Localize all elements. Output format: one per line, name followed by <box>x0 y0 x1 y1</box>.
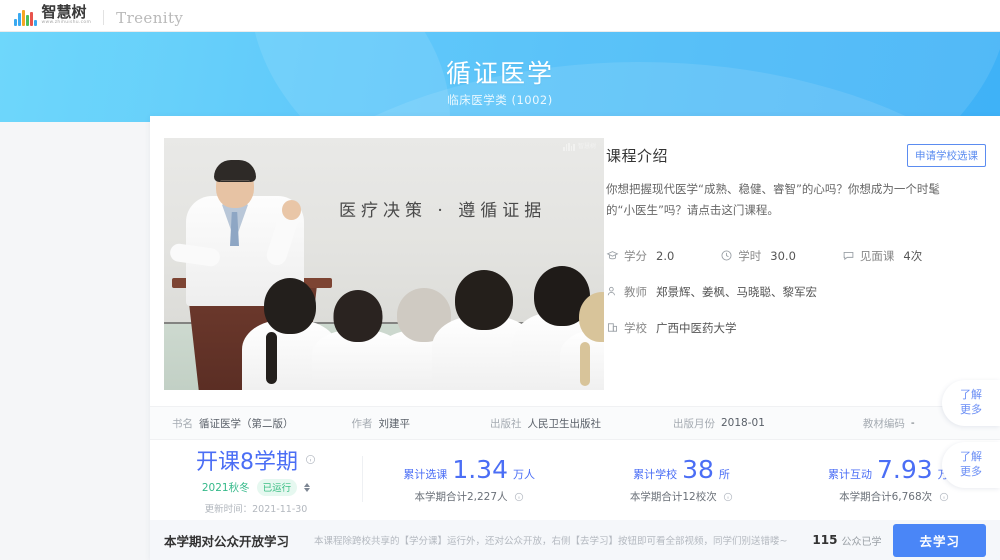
info-icon[interactable] <box>723 492 733 502</box>
stat-schools-sub-text: 本学期合计12校次 <box>630 491 717 503</box>
meta-teacher-label: 教师 <box>624 284 647 300</box>
stat-enrollment: 累计选课 1.34 万人 本学期合计2,227人 <box>363 455 575 504</box>
semester-term: 2021秋冬 <box>202 480 250 495</box>
semester-title-row: 开课8学期 <box>150 444 362 476</box>
meta-hours-value: 30.0 <box>770 249 796 263</box>
learn-more-line2: 更多 <box>960 465 982 480</box>
textbook-publisher-label: 出版社 <box>490 416 522 431</box>
logo-url-text: www.zhihuishu.com <box>42 20 92 26</box>
public-learner-count-label: 公众已学 <box>841 533 881 548</box>
info-icon[interactable] <box>305 454 316 465</box>
textbook-name-label: 书名 <box>172 416 193 431</box>
lecturer-hand <box>282 200 301 220</box>
meta-school-value: 广西中医药大学 <box>656 320 737 336</box>
zhihuishu-watermark-icon: 智慧树 <box>563 143 596 151</box>
stat-schools-sub: 本学期合计12校次 <box>575 489 787 504</box>
stat-interactions-label: 累计互动 <box>828 466 872 482</box>
stat-schools-label: 累计学校 <box>633 466 677 482</box>
textbook-date-value: 2018-01 <box>721 417 765 429</box>
semester-selector-caret-icon[interactable] <box>304 483 310 492</box>
textbook-author: 作者 刘建平 <box>352 416 411 431</box>
stat-schools: 累计学校 38 所 本学期合计12校次 <box>575 455 787 504</box>
course-intro-header: 课程介绍 申请学校选课 <box>606 144 986 167</box>
page-root: 智慧树 www.zhihuishu.com Treenity 循证医学 临床医学… <box>0 0 1000 560</box>
semester-updated-time: 更新时间：2021-11-30 <box>150 501 362 515</box>
textbook-date-label: 出版月份 <box>673 416 715 431</box>
meta-school-label: 学校 <box>624 320 647 336</box>
graduation-cap-icon <box>606 249 619 262</box>
textbook-date: 出版月份 2018-01 <box>673 416 765 431</box>
meta-hours-label: 学时 <box>738 248 761 264</box>
meta-teacher-value: 郑景辉、姜枫、马晓聪、黎军宏 <box>656 284 817 300</box>
chat-bubble-icon <box>842 249 855 262</box>
course-banner: 循证医学 临床医学类 (1002) <box>0 32 1000 122</box>
page-title: 循证医学 <box>0 54 1000 90</box>
meta-school: 学校 广西中医药大学 <box>606 320 737 336</box>
public-learning-note: 本课程除跨校共享的【学分课】运行外，还对公众开放，右侧【去学习】按钮即可看全部视… <box>289 533 812 547</box>
meta-meetings-label: 见面课 <box>860 248 895 264</box>
textbook-info-bar: 书名 循证医学（第二版） 作者 刘建平 出版社 人民卫生出版社 出版月份 201… <box>150 406 1000 440</box>
textbook-code-value: - <box>911 417 915 429</box>
go-study-button[interactable]: 去学习 <box>893 524 986 557</box>
learn-more-pill-top[interactable]: 了解 更多 <box>942 380 1000 426</box>
meta-meetings: 见面课 4次 <box>842 248 922 264</box>
meta-row-school: 学校 广西中医药大学 <box>606 320 986 336</box>
meta-credit-label: 学分 <box>624 248 647 264</box>
stat-interactions-sub-text: 本学期合计6,768次 <box>839 491 932 503</box>
meta-teacher: 教师 郑景辉、姜枫、马晓聪、黎军宏 <box>606 284 817 300</box>
course-cover-image[interactable]: 医疗决策 · 遵循证据 <box>164 138 604 390</box>
info-icon[interactable] <box>514 492 524 502</box>
info-icon[interactable] <box>939 492 949 502</box>
watermark-label: 智慧树 <box>578 143 596 151</box>
textbook-publisher: 出版社 人民卫生出版社 <box>490 416 601 431</box>
stat-enrollment-sub-text: 本学期合计2,227人 <box>414 491 507 503</box>
meta-row-teacher: 教师 郑景辉、姜枫、马晓聪、黎军宏 <box>606 284 986 300</box>
course-statistics: 开课8学期 2021秋冬 已运行 更新时间：2021-11-30 <box>150 440 1000 518</box>
stat-schools-unit: 所 <box>719 466 730 482</box>
meta-row-basic: 学分 2.0 学时 30.0 <box>606 248 986 264</box>
user-icon <box>606 285 619 298</box>
textbook-publisher-value: 人民卫生出版社 <box>528 416 602 431</box>
meta-credit: 学分 2.0 <box>606 248 674 264</box>
student-figure <box>560 294 604 390</box>
meta-credit-value: 2.0 <box>656 249 674 263</box>
semester-title: 开课8学期 <box>196 444 298 476</box>
course-intro-title: 课程介绍 <box>606 145 668 166</box>
public-learner-count: 115 <box>812 533 837 547</box>
textbook-author-label: 作者 <box>352 416 373 431</box>
textbook-name: 书名 循证医学（第二版） <box>172 416 294 431</box>
page-subtitle: 临床医学类 (1002) <box>0 92 1000 108</box>
clock-icon <box>720 249 733 262</box>
meta-meetings-value: 4次 <box>903 248 922 264</box>
top-bar: 智慧树 www.zhihuishu.com Treenity <box>0 0 1000 32</box>
learn-more-line1: 了解 <box>960 388 982 403</box>
logo-english-text: Treenity <box>116 10 183 26</box>
course-meta: 学分 2.0 学时 30.0 <box>606 248 986 336</box>
stat-enrollment-sub: 本学期合计2,227人 <box>363 489 575 504</box>
stat-enrollment-unit: 万人 <box>513 466 535 482</box>
textbook-author-value: 刘建平 <box>379 416 411 431</box>
lecturer-hair <box>214 160 256 182</box>
stat-interactions-number: 7.93 <box>877 455 933 484</box>
textbook-name-value: 循证医学（第二版） <box>199 416 294 431</box>
status-badge: 已运行 <box>257 479 298 496</box>
course-info-panel: 课程介绍 申请学校选课 你想把握现代医学“成熟、稳健、睿智”的心吗？你想成为一个… <box>606 144 986 336</box>
stat-enrollment-line: 累计选课 1.34 万人 <box>363 455 575 484</box>
stat-interactions-sub: 本学期合计6,768次 <box>788 489 1000 504</box>
logo-divider <box>103 10 104 25</box>
meta-hours: 学时 30.0 <box>720 248 796 264</box>
course-description: 你想把握现代医学“成熟、稳健、睿智”的心吗？你想成为一个时髦的“小医生”吗？请点… <box>606 179 954 222</box>
stat-schools-line: 累计学校 38 所 <box>575 455 787 484</box>
learn-more-line2: 更多 <box>960 403 982 418</box>
stat-schools-number: 38 <box>682 455 714 484</box>
lecturer-glasses <box>220 180 250 187</box>
public-learning-title: 本学期对公众开放学习 <box>164 531 289 550</box>
whiteboard-text: 医疗决策 · 遵循证据 <box>339 196 546 221</box>
learn-more-line1: 了解 <box>960 450 982 465</box>
logo-chinese-text: 智慧树 <box>42 5 92 20</box>
semester-term-row: 2021秋冬 已运行 <box>150 479 362 496</box>
course-card: 医疗决策 · 遵循证据 <box>150 116 1000 560</box>
logo-bars-icon <box>14 10 37 26</box>
stat-enrollment-number: 1.34 <box>452 455 508 484</box>
building-icon <box>606 321 619 334</box>
learn-more-pill-bottom[interactable]: 了解 更多 <box>942 442 1000 488</box>
apply-school-course-button[interactable]: 申请学校选课 <box>907 144 986 167</box>
textbook-code-label: 教材编码 <box>863 416 905 431</box>
semester-block: 开课8学期 2021秋冬 已运行 更新时间：2021-11-30 <box>150 444 362 515</box>
stat-enrollment-label: 累计选课 <box>403 466 447 482</box>
site-logo[interactable]: 智慧树 www.zhihuishu.com Treenity <box>14 5 183 26</box>
textbook-code: 教材编码 - <box>863 416 915 431</box>
public-learning-bar: 本学期对公众开放学习 本课程除跨校共享的【学分课】运行外，还对公众开放，右侧【去… <box>150 520 1000 560</box>
cover-photo: 医疗决策 · 遵循证据 <box>164 138 604 390</box>
